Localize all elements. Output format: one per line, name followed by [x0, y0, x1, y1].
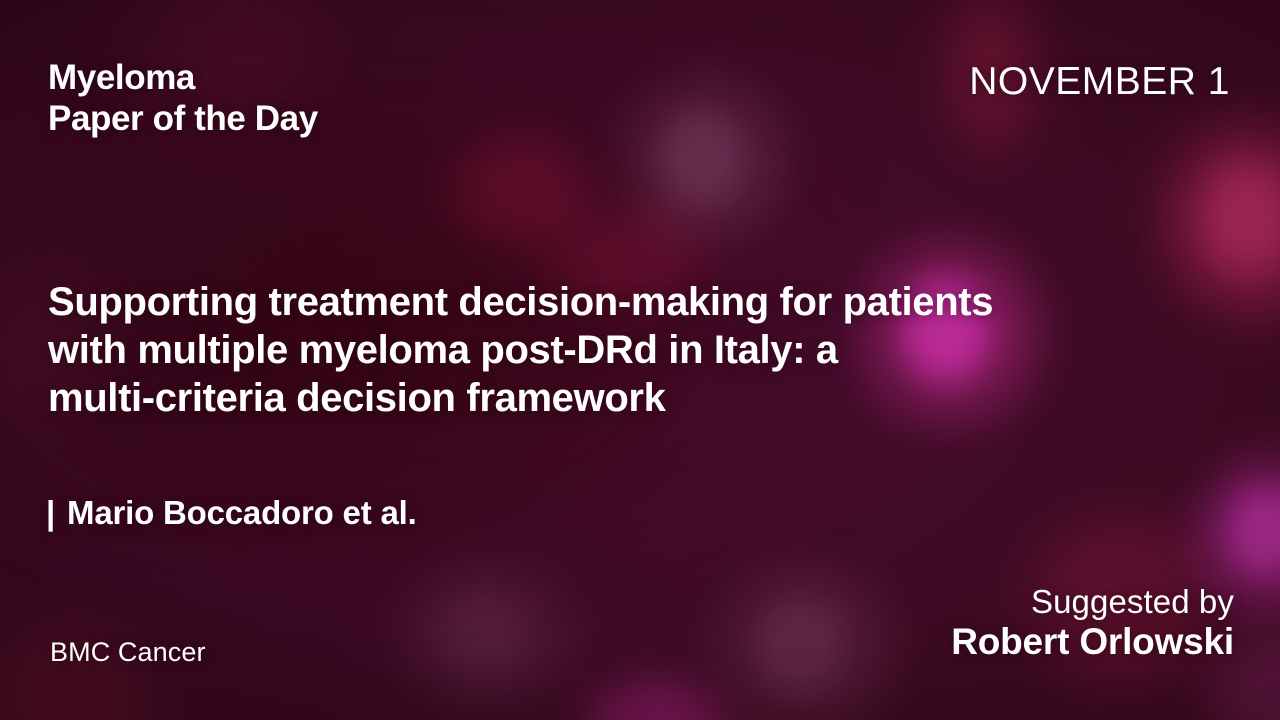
brand-title: Myeloma Paper of the Day: [48, 57, 318, 140]
suggested-by-block: Suggested by Robert Orlowski: [951, 583, 1234, 663]
suggested-by-label: Suggested by: [951, 583, 1234, 621]
paper-authors: |Mario Boccadoro et al.: [46, 494, 417, 532]
card-content: Myeloma Paper of the Day NOVEMBER 1 Supp…: [0, 0, 1280, 720]
paper-title: Supporting treatment decision-making for…: [48, 278, 1058, 422]
paper-title-line-1: Supporting treatment decision-making for…: [48, 278, 1058, 326]
date-label: NOVEMBER 1: [969, 60, 1230, 104]
paper-of-the-day-card: Myeloma Paper of the Day NOVEMBER 1 Supp…: [0, 0, 1280, 720]
paper-title-line-2: with multiple myeloma post-DRd in Italy:…: [48, 326, 1058, 374]
authors-name: Mario Boccadoro et al.: [67, 494, 417, 531]
journal-name: BMC Cancer: [50, 637, 206, 668]
brand-line-2: Paper of the Day: [48, 98, 318, 139]
suggested-by-name: Robert Orlowski: [951, 621, 1234, 663]
brand-line-1: Myeloma: [48, 57, 318, 98]
authors-separator: |: [46, 494, 55, 531]
paper-title-line-3: multi-criteria decision framework: [48, 374, 1058, 422]
